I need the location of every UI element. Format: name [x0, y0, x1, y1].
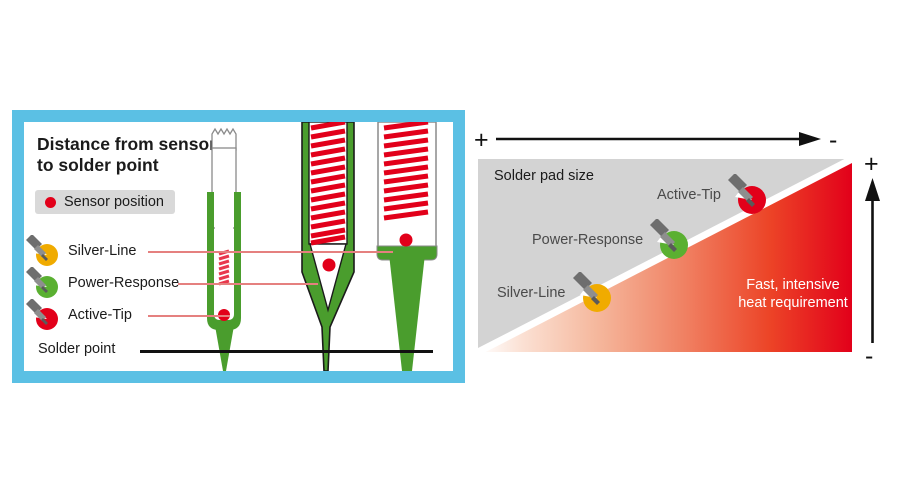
soldering-iron-icon: [22, 235, 62, 267]
matrix-label-power-response: Power-Response: [532, 232, 643, 248]
tip-silver-line: [207, 129, 241, 371]
soldering-iron-icon: [22, 299, 62, 331]
tip-power-response: [302, 122, 354, 371]
solder-pad-size-label: Solder pad size: [494, 168, 594, 184]
matrix-item-power-response[interactable]: Power-Response: [532, 219, 692, 261]
legend-label-silver-line: Silver-Line: [68, 243, 137, 259]
heat-requirement-line-2: heat requirement: [733, 294, 853, 312]
horizontal-axis-minus-symbol: -: [829, 128, 837, 153]
soldering-iron-icon: [646, 219, 692, 261]
vertical-axis-plus-symbol: +: [864, 152, 879, 177]
matrix-label-silver-line: Silver-Line: [497, 285, 566, 301]
solder-point-baseline: [140, 350, 433, 353]
matrix-item-active-tip[interactable]: Active-Tip: [657, 174, 770, 216]
legend-item-active-tip[interactable]: Active-Tip: [22, 298, 132, 332]
silver-shaft-top: [212, 129, 236, 150]
silver-tip-point: [214, 320, 235, 371]
matrix-label-active-tip: Active-Tip: [657, 187, 721, 203]
soldering-iron-icon: [724, 174, 770, 216]
soldering-iron-icon: [569, 272, 615, 314]
heat-requirement-label: Fast, intensive heat requirement: [733, 276, 853, 312]
vertical-axis-minus-symbol: -: [865, 344, 873, 369]
legend-item-power-response[interactable]: Power-Response: [22, 266, 179, 300]
heat-requirement-line-1: Fast, intensive: [733, 276, 853, 294]
legend-item-silver-line[interactable]: Silver-Line: [22, 234, 137, 268]
leader-line-active-tip: [148, 315, 230, 317]
horizontal-axis-arrow-icon: [496, 131, 821, 147]
leader-line-silver-line: [148, 251, 393, 253]
leader-line-power-response: [178, 283, 318, 285]
horizontal-axis-plus-symbol: +: [474, 128, 489, 153]
solder-point-label: Solder point: [38, 341, 115, 357]
matrix-item-silver-line[interactable]: Silver-Line: [497, 272, 615, 314]
vertical-axis-arrow-icon: [864, 178, 881, 343]
active-tip-point: [389, 254, 425, 371]
active-sensor-dot: [400, 234, 413, 247]
soldering-iron-icon: [22, 267, 62, 299]
power-sensor-dot: [323, 259, 336, 272]
legend-label-power-response: Power-Response: [68, 275, 179, 291]
tip-active-tip: [377, 122, 437, 371]
legend-label-active-tip: Active-Tip: [68, 307, 132, 323]
